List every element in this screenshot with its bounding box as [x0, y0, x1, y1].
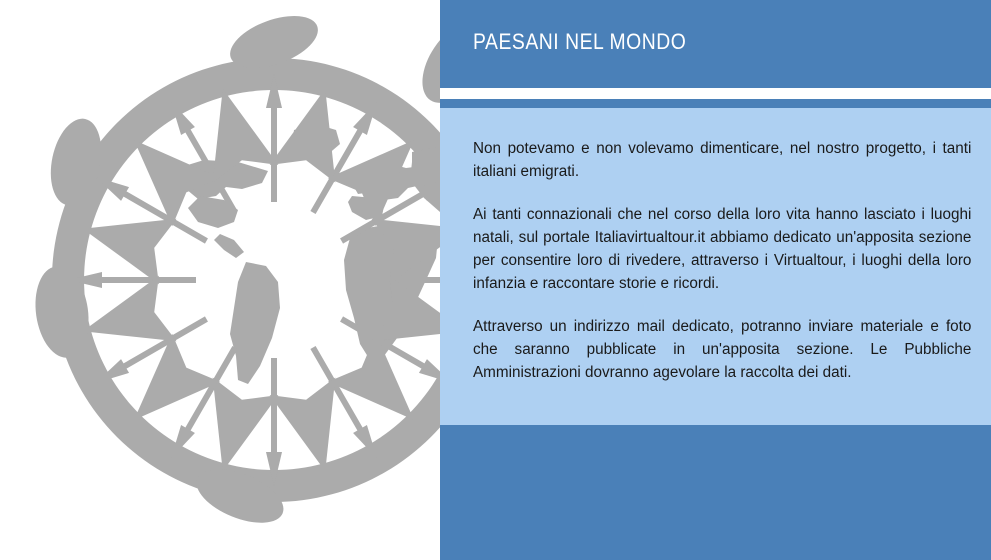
- page-title: PAESANI NEL MONDO: [473, 29, 686, 55]
- globe-graphic-wrapper: [0, 0, 440, 560]
- content-text-block: Non potevamo e non volevamo dimenticare,…: [473, 137, 979, 384]
- slide: PAESANI NEL MONDO Non potevamo e non vol…: [0, 0, 991, 560]
- footer-panel: [440, 425, 991, 560]
- accent-strip: [440, 99, 991, 108]
- body-paragraph: Attraverso un indirizzo mail dedicato, p…: [473, 315, 971, 384]
- body-paragraph: Ai tanti connazionali che nel corso dell…: [473, 203, 971, 295]
- header-bar: PAESANI NEL MONDO: [440, 0, 991, 88]
- body-paragraph: Non potevamo e non volevamo dimenticare,…: [473, 137, 971, 183]
- content-box: Non potevamo e non volevamo dimenticare,…: [440, 108, 991, 425]
- graphic-panel: [0, 0, 440, 560]
- globe-with-outward-arrows-icon: [0, 0, 440, 560]
